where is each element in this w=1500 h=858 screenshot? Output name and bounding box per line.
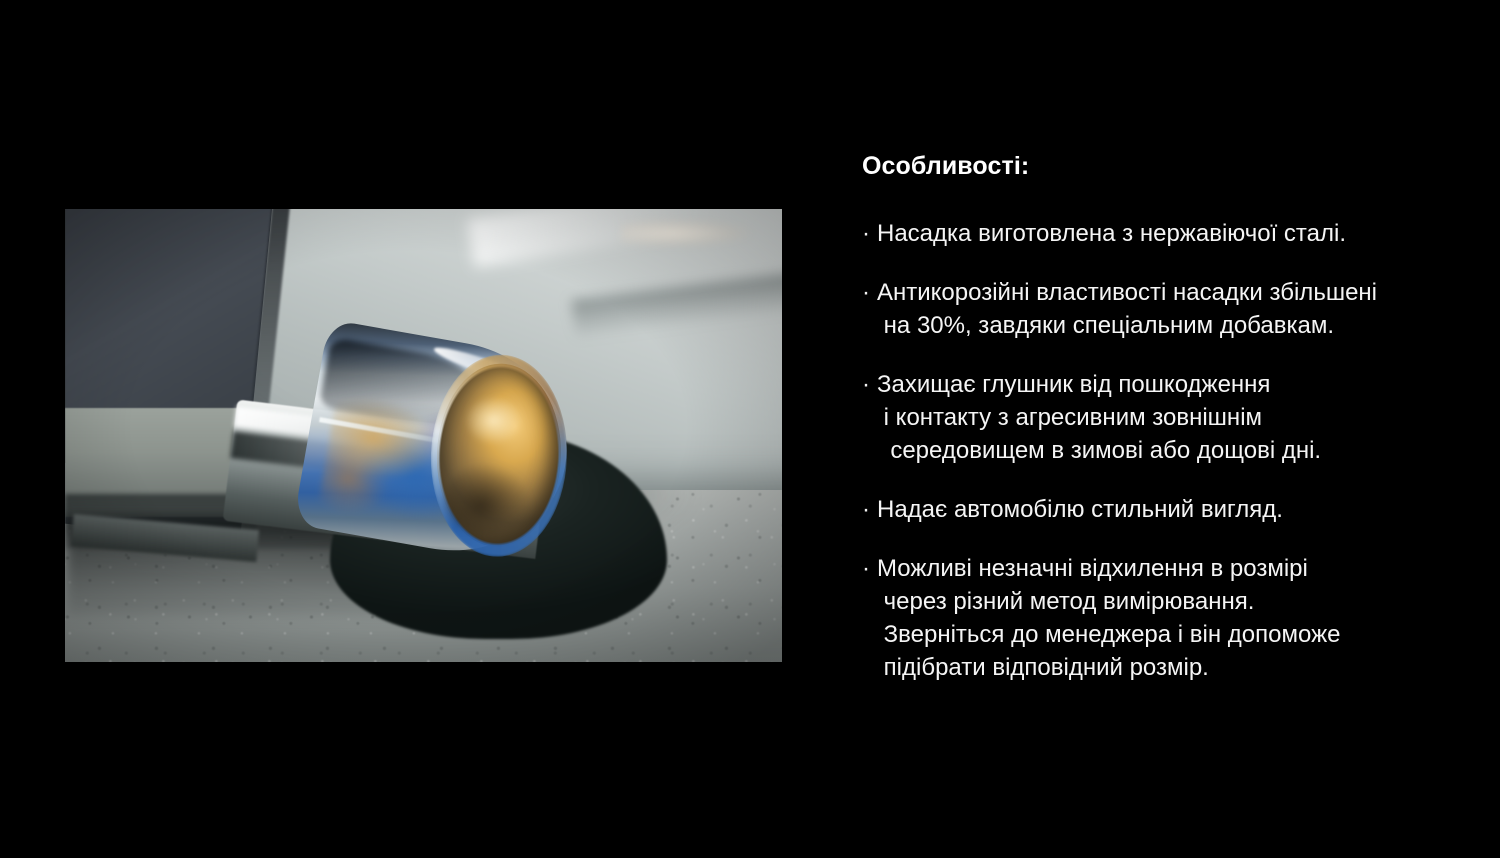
- feature-line: Насадка виготовлена з нержавіючої сталі.: [877, 217, 1462, 250]
- bullet-icon: ·: [862, 493, 877, 526]
- feature-line: Антикорозійні властивості насадки збільш…: [877, 276, 1462, 309]
- bullet-icon: ·: [862, 217, 877, 250]
- features-list: ·Насадка виготовлена з нержавіючої сталі…: [862, 217, 1462, 684]
- feature-text: Надає автомобілю стильний вигляд.: [877, 493, 1462, 526]
- feature-item: ·Антикорозійні властивості насадки збіль…: [862, 276, 1462, 342]
- feature-item: ·Можливі незначні відхилення в розмірі ч…: [862, 552, 1462, 684]
- body-reflection: [621, 219, 753, 247]
- feature-text: Захищає глушник від пошкодження і контак…: [877, 368, 1462, 467]
- feature-text: Можливі незначні відхилення в розмірі че…: [877, 552, 1462, 684]
- feature-line: Зверніться до менеджера і він допоможе: [877, 618, 1462, 651]
- feature-item: ·Насадка виготовлена з нержавіючої сталі…: [862, 217, 1462, 250]
- feature-line: підібрати відповідний розмір.: [877, 651, 1462, 684]
- product-photo: [65, 209, 782, 662]
- feature-text: Антикорозійні властивості насадки збільш…: [877, 276, 1462, 342]
- tip-mouth: [434, 362, 564, 550]
- feature-line: Надає автомобілю стильний вигляд.: [877, 493, 1462, 526]
- feature-item: ·Захищає глушник від пошкодження і конта…: [862, 368, 1462, 467]
- features-title: Особливості:: [862, 152, 1462, 181]
- feature-line: Захищає глушник від пошкодження: [877, 368, 1462, 401]
- feature-line: і контакту з агресивним зовнішнім: [877, 401, 1462, 434]
- bullet-icon: ·: [862, 552, 877, 585]
- feature-line: на 30%, завдяки спеціальним добавкам.: [877, 309, 1462, 342]
- feature-line: середовищем в зимові або дощові дні.: [877, 434, 1462, 467]
- bullet-icon: ·: [862, 368, 877, 401]
- body-crease-shadow: [572, 267, 782, 362]
- feature-line: Можливі незначні відхилення в розмірі: [877, 552, 1462, 585]
- feature-item: ·Надає автомобілю стильний вигляд.: [862, 493, 1462, 526]
- exhaust-tip: [293, 320, 583, 570]
- feature-text: Насадка виготовлена з нержавіючої сталі.: [877, 217, 1462, 250]
- features-panel: Особливості: ·Насадка виготовлена з нерж…: [862, 152, 1462, 710]
- feature-line: через різний метод вимірювання.: [877, 585, 1462, 618]
- bullet-icon: ·: [862, 276, 877, 309]
